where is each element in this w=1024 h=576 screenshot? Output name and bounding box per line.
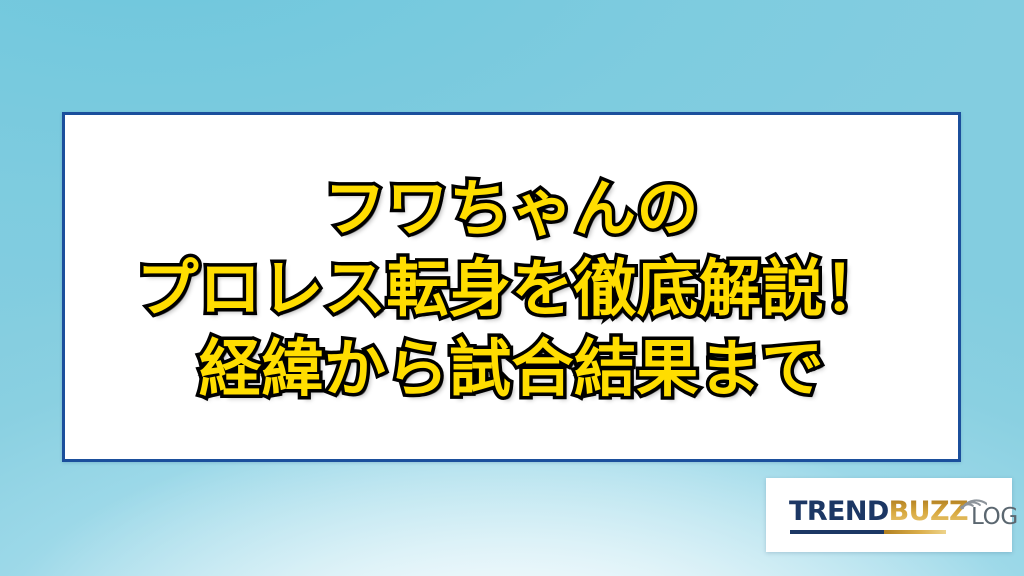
brand-underline-gold	[884, 530, 946, 534]
brand-logo: TREND BUZZ LOG	[789, 492, 989, 538]
signal-dot-icon	[960, 506, 964, 510]
title-line-2: プロレス転身を徹底解説！	[65, 249, 958, 329]
title-block: フワちゃんの プロレス転身を徹底解説！ 経緯から試合結果まで	[65, 165, 958, 409]
brand-logo-badge[interactable]: TREND BUZZ LOG	[766, 478, 1012, 552]
title-line-1: フワちゃんの	[65, 169, 958, 249]
signal-waves-icon	[957, 486, 987, 510]
title-card: フワちゃんの プロレス転身を徹底解説！ 経緯から試合結果まで	[62, 112, 961, 462]
brand-underline-navy	[790, 530, 884, 534]
thumbnail-canvas: フワちゃんの プロレス転身を徹底解説！ 経緯から試合結果まで TREND BUZ…	[0, 0, 1024, 576]
title-line-3: 経緯から試合結果まで	[65, 329, 958, 409]
brand-underline	[790, 530, 946, 534]
brand-text-trend: TREND	[789, 496, 889, 527]
